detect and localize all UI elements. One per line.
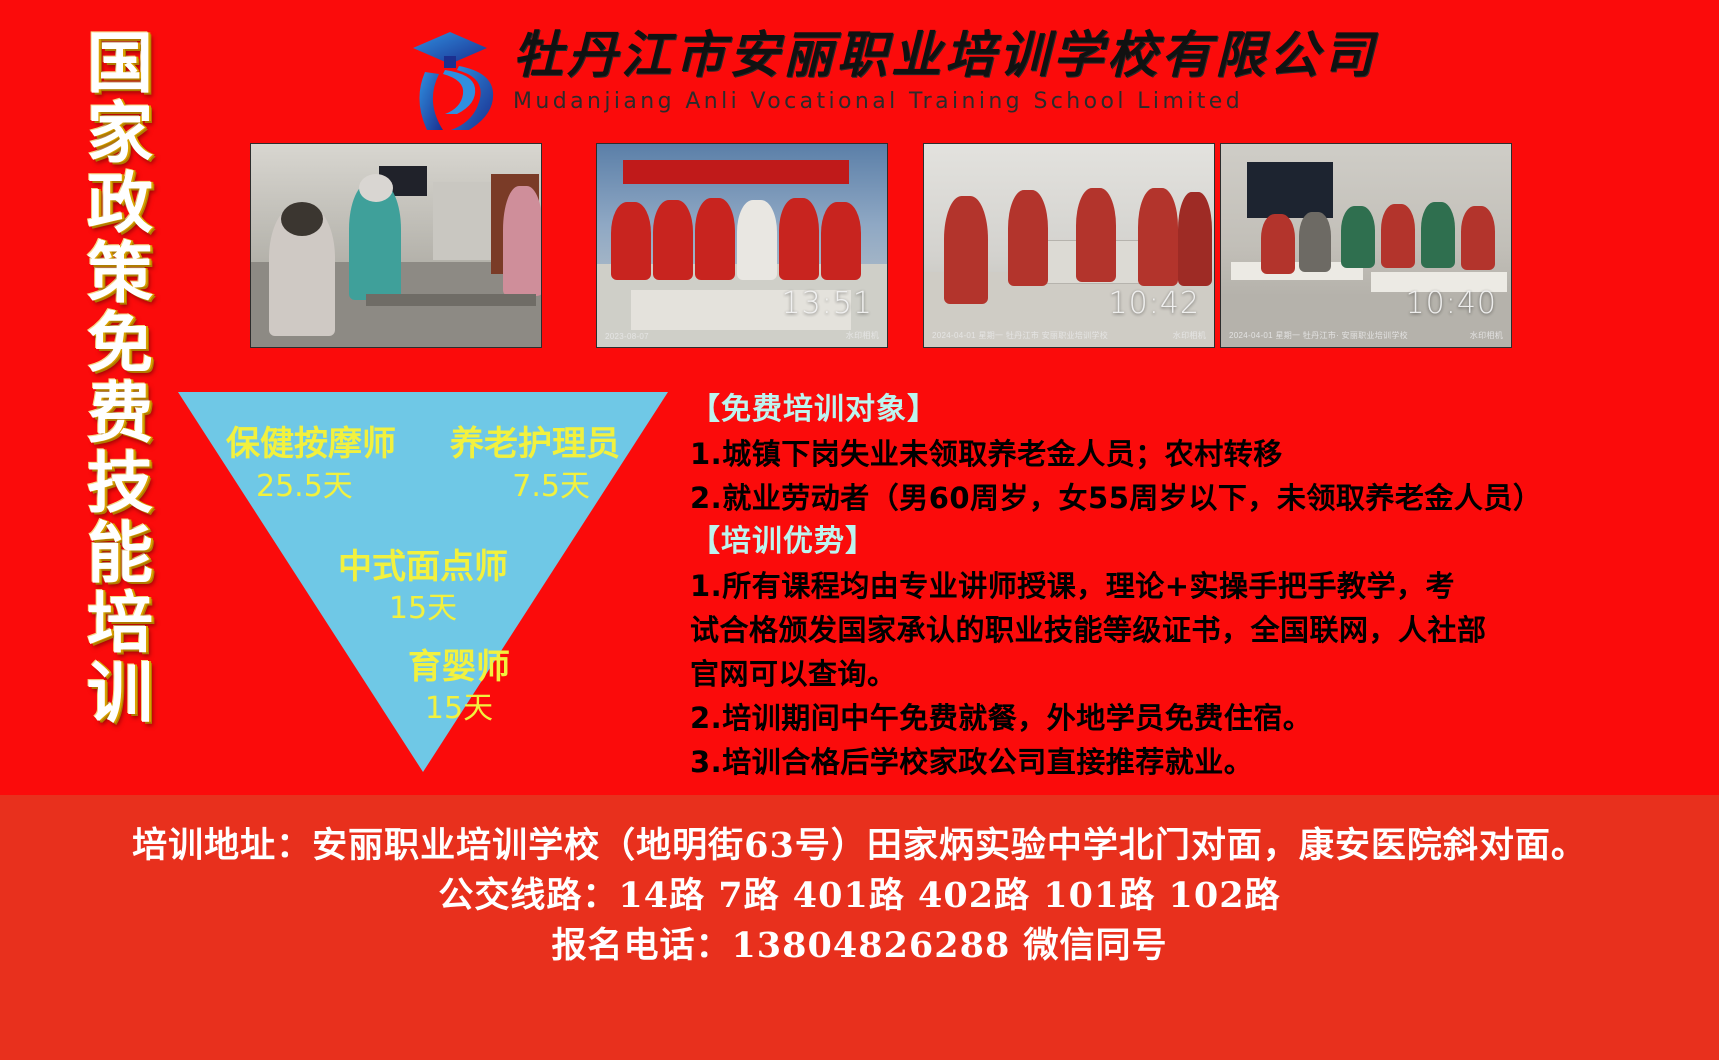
course-name: 保健按摩师 bbox=[226, 424, 396, 464]
advantage-line: 2.培训期间中午免费就餐，外地学员免费住宿。 bbox=[690, 696, 1710, 740]
headline-char: 培 bbox=[87, 588, 153, 658]
poster-canvas: 国 家 政 策 免 费 技 能 培 训 bbox=[0, 0, 1719, 1060]
headline-char: 国 bbox=[87, 28, 153, 98]
eligibility-line: 2.就业劳动者（男60周岁，女55周岁以下，未领取养老金人员） bbox=[690, 476, 1710, 520]
header-text: 牡丹江市安丽职业培训学校有限公司 Mudanjiang Anli Vocatio… bbox=[513, 22, 1293, 116]
course-days: 15天 bbox=[214, 690, 704, 728]
footer-address: 培训地址：安丽职业培训学校（地明街63号）田家炳实验中学北门对面，康安医院斜对面… bbox=[0, 821, 1719, 871]
course-days: 7.5天 bbox=[512, 468, 590, 506]
photo-watermark: 水印相机 bbox=[1470, 330, 1503, 341]
vertical-headline: 国 家 政 策 免 费 技 能 培 训 bbox=[60, 28, 180, 758]
headline-char: 政 bbox=[87, 168, 153, 238]
pastry-class-photo bbox=[250, 143, 542, 348]
advantage-line: 试合格颁发国家承认的职业技能等级证书，全国联网，人社部 bbox=[690, 608, 1710, 652]
footer-contact: 培训地址：安丽职业培训学校（地明街63号）田家炳实验中学北门对面，康安医院斜对面… bbox=[0, 795, 1719, 1060]
photo-watermark: 水印相机 bbox=[846, 330, 879, 341]
photo-caption: 2024-04-01 星期一 牡丹江市 安丽职业培训学校 bbox=[932, 330, 1108, 341]
footer-phone[interactable]: 报名电话：13804826288 微信同号 bbox=[0, 921, 1719, 971]
school-name-en: Mudanjiang Anli Vocational Training Scho… bbox=[513, 88, 1293, 116]
footer-bus-routes: 公交线路：14路 7路 401路 402路 101路 102路 bbox=[0, 871, 1719, 921]
photo-strip: 13:51 2023-08-07 水印相机 10:42 2024-04-01 星… bbox=[250, 143, 1710, 348]
advantage-line: 3.培训合格后学校家政公司直接推荐就业。 bbox=[690, 740, 1710, 784]
funnel-labels: 保健按摩师 养老护理员 25.5天 7.5天 中式面点师 15天 育婴师 15天 bbox=[178, 392, 668, 772]
group-training-photo: 13:51 2023-08-07 水印相机 bbox=[596, 143, 888, 348]
graduation-cap-logo-icon bbox=[395, 26, 505, 134]
photo-caption: 2023-08-07 bbox=[605, 332, 649, 341]
photo-timestamp: 13:51 bbox=[782, 286, 873, 321]
headline-char: 免 bbox=[87, 308, 153, 378]
photo-timestamp: 10:42 bbox=[1109, 286, 1200, 321]
nursing-practice-photo: 10:42 2024-04-01 星期一 牡丹江市 安丽职业培训学校 水印相机 bbox=[923, 143, 1215, 348]
headline-char: 家 bbox=[87, 98, 153, 168]
headline-char: 训 bbox=[87, 658, 153, 728]
advantages-heading: 【培训优势】 bbox=[690, 520, 1710, 564]
course-name: 中式面点师 bbox=[178, 547, 668, 587]
headline-char: 能 bbox=[87, 518, 153, 588]
photo-caption: 2024-04-01 星期一 牡丹江市· 安丽职业培训学校 bbox=[1229, 330, 1408, 341]
headline-char: 技 bbox=[87, 448, 153, 518]
classroom-lecture-photo: 10:40 2024-04-01 星期一 牡丹江市· 安丽职业培训学校 水印相机 bbox=[1220, 143, 1512, 348]
eligibility-line: 1.城镇下岗失业未领取养老金人员；农村转移 bbox=[690, 432, 1710, 476]
headline-char: 策 bbox=[87, 238, 153, 308]
info-block: 【免费培训对象】 1.城镇下岗失业未领取养老金人员；农村转移 2.就业劳动者（男… bbox=[690, 388, 1710, 784]
course-name: 养老护理员 bbox=[450, 424, 620, 464]
course-days: 25.5天 bbox=[256, 468, 353, 506]
headline-char: 费 bbox=[87, 378, 153, 448]
advantage-line: 1.所有课程均由专业讲师授课，理论+实操手把手教学，考 bbox=[690, 564, 1710, 608]
school-name-cn: 牡丹江市安丽职业培训学校有限公司 bbox=[513, 22, 1293, 88]
advantage-line: 官网可以查询。 bbox=[690, 652, 1710, 696]
header: 牡丹江市安丽职业培训学校有限公司 Mudanjiang Anli Vocatio… bbox=[395, 18, 1295, 138]
photo-timestamp: 10:40 bbox=[1406, 286, 1497, 321]
course-days: 15天 bbox=[178, 590, 668, 628]
course-name: 育婴师 bbox=[214, 647, 704, 687]
photo-watermark: 水印相机 bbox=[1173, 330, 1206, 341]
course-funnel: 保健按摩师 养老护理员 25.5天 7.5天 中式面点师 15天 育婴师 15天 bbox=[178, 392, 668, 772]
eligibility-heading: 【免费培训对象】 bbox=[690, 388, 1710, 432]
